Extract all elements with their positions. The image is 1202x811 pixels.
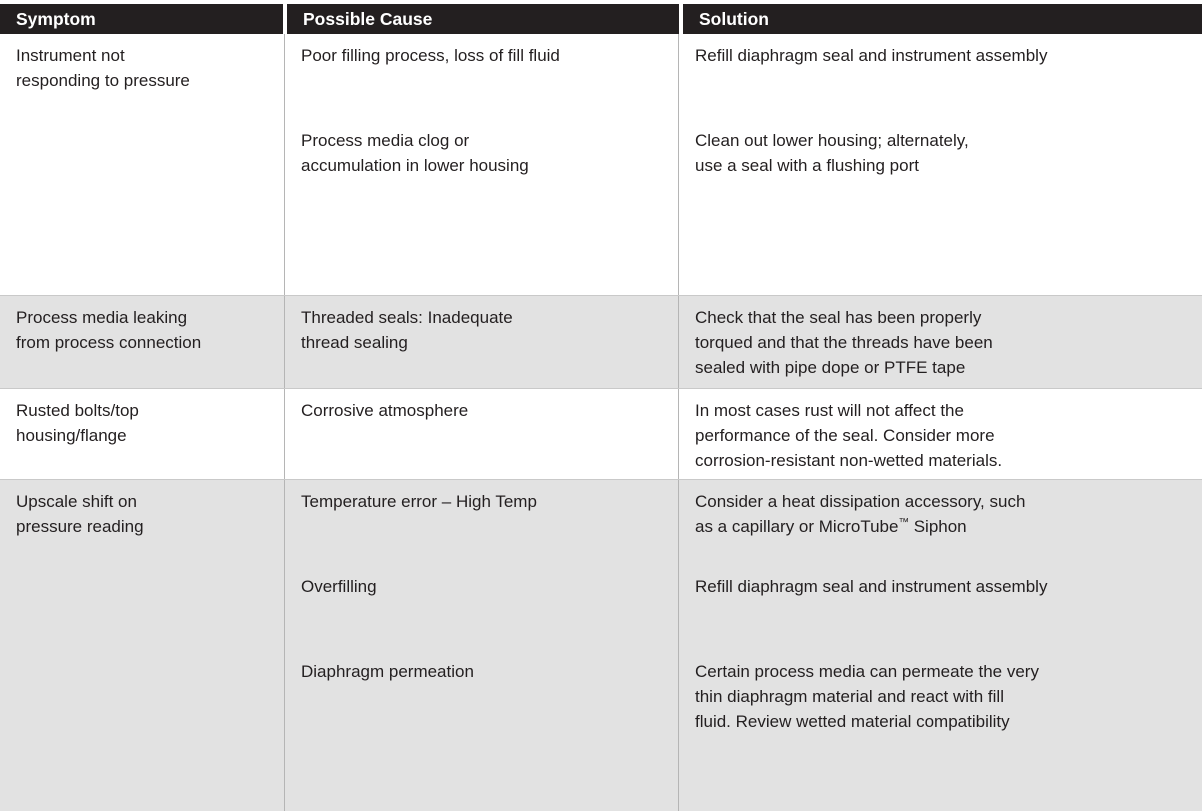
symptom-text: Process media leaking from process conne… bbox=[16, 305, 270, 355]
cause-item: Poor filling process, loss of fill fluid bbox=[301, 43, 664, 68]
sub-block-spacer bbox=[695, 599, 1188, 659]
cause-item: Corrosive atmosphere bbox=[301, 398, 664, 423]
text-line: as a capillary or MicroTube™ Siphon bbox=[695, 514, 1188, 539]
sub-block-spacer bbox=[301, 514, 664, 574]
column-header-possible-cause: Possible Cause bbox=[287, 4, 679, 34]
cell-possible-cause: Corrosive atmosphere bbox=[285, 389, 679, 479]
text-line: sealed with pipe dope or PTFE tape bbox=[695, 355, 1188, 380]
text-line: pressure reading bbox=[16, 514, 270, 539]
symptom-text: Upscale shift on pressure reading bbox=[16, 489, 270, 539]
cell-solution: Refill diaphragm seal and instrument ass… bbox=[679, 34, 1202, 295]
text-line: Certain process media can permeate the v… bbox=[695, 659, 1188, 684]
text-line: Process media leaking bbox=[16, 305, 270, 330]
text-line: Threaded seals: Inadequate bbox=[301, 305, 664, 330]
table-header-row: Symptom Possible Cause Solution bbox=[0, 0, 1202, 34]
solution-item: Check that the seal has been properly to… bbox=[695, 305, 1188, 380]
sub-block-spacer bbox=[695, 539, 1188, 574]
text-line: Corrosive atmosphere bbox=[301, 398, 664, 423]
cause-item: Temperature error – High Temp bbox=[301, 489, 664, 514]
cell-possible-cause: Poor filling process, loss of fill fluid… bbox=[285, 34, 679, 295]
text-line: Consider a heat dissipation accessory, s… bbox=[695, 489, 1188, 514]
cause-item: Overfilling bbox=[301, 574, 664, 599]
text-line: from process connection bbox=[16, 330, 270, 355]
cell-symptom: Rusted bolts/top housing/flange bbox=[0, 389, 285, 479]
cell-solution: Check that the seal has been properly to… bbox=[679, 296, 1202, 388]
text-line: Temperature error – High Temp bbox=[301, 489, 664, 514]
column-header-solution: Solution bbox=[683, 4, 1202, 34]
text-line: accumulation in lower housing bbox=[301, 153, 664, 178]
table-row: Upscale shift on pressure reading Temper… bbox=[0, 480, 1202, 811]
cause-item: Diaphragm permeation bbox=[301, 659, 664, 684]
text-line: responding to pressure bbox=[16, 68, 270, 93]
solution-item: Refill diaphragm seal and instrument ass… bbox=[695, 574, 1188, 599]
solution-item: Clean out lower housing; alternately, us… bbox=[695, 128, 1188, 178]
table-row: Process media leaking from process conne… bbox=[0, 296, 1202, 389]
sub-block-spacer bbox=[695, 68, 1188, 128]
row-spacer bbox=[16, 448, 270, 473]
cell-symptom: Instrument not responding to pressure bbox=[0, 34, 285, 295]
solution-item: In most cases rust will not affect the p… bbox=[695, 398, 1188, 473]
solution-item: Refill diaphragm seal and instrument ass… bbox=[695, 43, 1188, 68]
text-line: thin diaphragm material and react with f… bbox=[695, 684, 1188, 709]
text-line: Poor filling process, loss of fill fluid bbox=[301, 43, 664, 68]
cell-symptom: Upscale shift on pressure reading bbox=[0, 480, 285, 811]
text-line: In most cases rust will not affect the bbox=[695, 398, 1188, 423]
text-line: Process media clog or bbox=[301, 128, 664, 153]
text-line: Diaphragm permeation bbox=[301, 659, 664, 684]
text-line: corrosion-resistant non-wetted materials… bbox=[695, 448, 1188, 473]
cell-possible-cause: Temperature error – High Temp Overfillin… bbox=[285, 480, 679, 811]
text-line: Instrument not bbox=[16, 43, 270, 68]
cell-solution: In most cases rust will not affect the p… bbox=[679, 389, 1202, 479]
text-line: thread sealing bbox=[301, 330, 664, 355]
cause-item: Threaded seals: Inadequate thread sealin… bbox=[301, 305, 664, 355]
table-row: Instrument not responding to pressure Po… bbox=[0, 34, 1202, 296]
row-spacer bbox=[16, 355, 270, 382]
text-line: torqued and that the threads have been bbox=[695, 330, 1188, 355]
cell-solution: Consider a heat dissipation accessory, s… bbox=[679, 480, 1202, 811]
cause-item: Process media clog or accumulation in lo… bbox=[301, 128, 664, 178]
table-row: Rusted bolts/top housing/flange Corrosiv… bbox=[0, 389, 1202, 480]
solution-item: Certain process media can permeate the v… bbox=[695, 659, 1188, 734]
cell-possible-cause: Threaded seals: Inadequate thread sealin… bbox=[285, 296, 679, 388]
text-line: Clean out lower housing; alternately, bbox=[695, 128, 1188, 153]
text-line: Refill diaphragm seal and instrument ass… bbox=[695, 43, 1188, 68]
text-line: Upscale shift on bbox=[16, 489, 270, 514]
symptom-text: Rusted bolts/top housing/flange bbox=[16, 398, 270, 448]
table-body: Instrument not responding to pressure Po… bbox=[0, 34, 1202, 811]
cell-symptom: Process media leaking from process conne… bbox=[0, 296, 285, 388]
solution-item: Consider a heat dissipation accessory, s… bbox=[695, 489, 1188, 539]
text-line: Overfilling bbox=[301, 574, 664, 599]
text-line: housing/flange bbox=[16, 423, 270, 448]
column-header-symptom: Symptom bbox=[0, 4, 283, 34]
text-line: fluid. Review wetted material compatibil… bbox=[695, 709, 1188, 734]
row-spacer bbox=[16, 539, 270, 805]
text-line: use a seal with a flushing port bbox=[695, 153, 1188, 178]
sub-block-spacer bbox=[301, 599, 664, 659]
symptom-text: Instrument not responding to pressure bbox=[16, 43, 270, 93]
troubleshooting-table: Symptom Possible Cause Solution Instrume… bbox=[0, 0, 1202, 636]
text-line: Refill diaphragm seal and instrument ass… bbox=[695, 574, 1188, 599]
sub-block-spacer bbox=[301, 68, 664, 128]
text-line: Rusted bolts/top bbox=[16, 398, 270, 423]
text-line: performance of the seal. Consider more bbox=[695, 423, 1188, 448]
row-spacer bbox=[16, 93, 270, 289]
text-line: Check that the seal has been properly bbox=[695, 305, 1188, 330]
